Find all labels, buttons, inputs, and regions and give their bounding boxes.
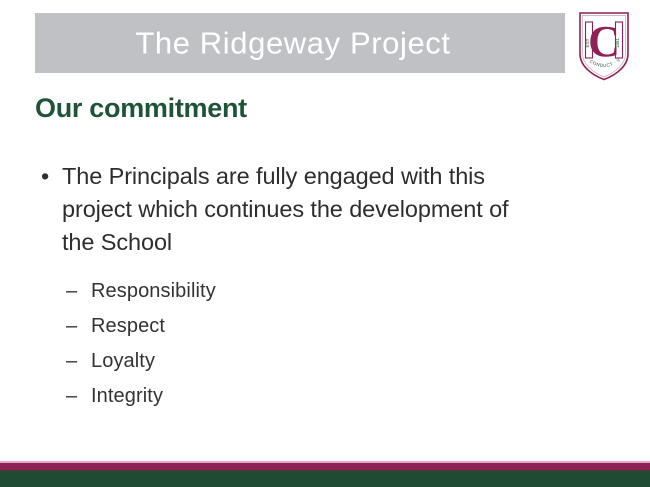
slide-canvas: The Ridgeway Project EST 1881 C CONDUCT [0,0,650,487]
list-item: – Respect [35,309,580,344]
list-item-label: Integrity [91,385,163,407]
dash-marker-icon: – [66,379,77,414]
slide-title: The Ridgeway Project [35,28,565,59]
dash-marker-icon: – [66,309,77,344]
sub-list: – Responsibility – Respect – Loyalty – I… [35,274,580,414]
page-title: Our commitment [35,93,247,124]
slide-title-bar: The Ridgeway Project [35,13,565,73]
list-item-label: Respect [91,315,165,337]
list-item: – Loyalty [35,344,580,379]
list-item: – Integrity [35,379,580,414]
list-item-label: Loyalty [91,350,155,372]
slide-body: • The Principals are fully engaged with … [35,160,580,414]
svg-text:C: C [588,17,620,66]
dash-marker-icon: – [66,344,77,379]
school-crest-icon: EST 1881 C CONDUCT · VIRTUE [577,10,631,82]
footer-stripe-maroon [0,463,650,470]
footer-stripe-green [0,472,650,487]
list-item: • The Principals are fully engaged with … [35,160,580,259]
dash-marker-icon: – [66,274,77,309]
list-item-label: Responsibility [91,280,216,302]
list-item: – Responsibility [35,274,580,309]
list-item-label: The Principals are fully engaged with th… [62,160,542,259]
bullet-dot-icon: • [41,160,49,193]
